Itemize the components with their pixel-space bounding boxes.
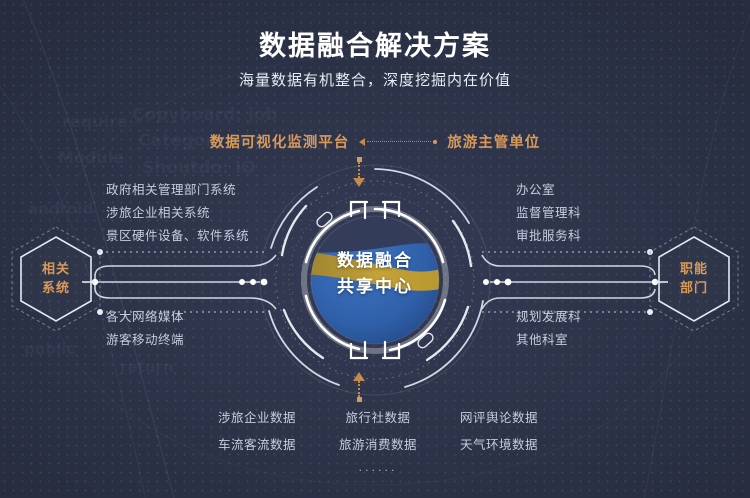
right-hex-line1: 职能 <box>680 260 708 279</box>
list-item[interactable]: 办公室 <box>516 178 581 201</box>
watermark-text: android <box>28 200 93 218</box>
right-hex-line2: 部门 <box>680 279 708 298</box>
left-sources-top-list: 政府相关管理部门系统 涉旅企业相关系统 景区硬件设备、软件系统 <box>106 178 249 247</box>
list-item[interactable]: 游客移动终端 <box>106 328 184 351</box>
data-row-2: 车流客流数据 旅游消费数据 天气环境数据 <box>218 434 538 453</box>
right-departments-top-list: 办公室 监督管理科 审批服务科 <box>516 178 581 247</box>
right-departments-bottom-list: 规划发展科 其他科室 <box>516 305 581 351</box>
data-cell[interactable]: 旅游消费数据 <box>339 434 417 453</box>
data-fusion-hub[interactable]: 数据融合 共享中心 <box>255 160 495 400</box>
left-hex-line2: 系统 <box>42 279 70 298</box>
data-row-1: 涉旅企业数据 旅行社数据 网评舆论数据 <box>218 407 538 426</box>
list-item[interactable]: 监督管理科 <box>516 201 581 224</box>
list-item[interactable]: 审批服务科 <box>516 224 581 247</box>
right-hexagon-label: 职能 部门 <box>646 224 742 334</box>
infographic-canvas: Copyboard: job Category: de Shoutdo: IO … <box>0 0 750 498</box>
authority-label[interactable]: 旅游主管单位 <box>447 131 540 152</box>
left-hexagon[interactable]: 相关 系统 <box>8 224 104 334</box>
dotted-arrow-left-icon <box>359 136 437 148</box>
left-sources-bottom-list: 各大网络媒体 游客移动终端 <box>106 305 184 351</box>
data-cell[interactable]: 旅行社数据 <box>345 407 410 426</box>
top-node-row: 数据可视化监测平台 旅游主管单位 <box>0 131 750 152</box>
list-item[interactable]: 政府相关管理部门系统 <box>106 178 249 201</box>
data-cell[interactable]: 网评舆论数据 <box>460 407 538 426</box>
list-item[interactable]: 其他科室 <box>516 328 581 351</box>
left-hexagon-label: 相关 系统 <box>8 224 104 334</box>
watermark-text: require <box>62 112 128 131</box>
right-hexagon[interactable]: 职能 部门 <box>646 224 742 334</box>
bottom-data-grid: 涉旅企业数据 旅行社数据 网评舆论数据 车流客流数据 旅游消费数据 天气环境数据… <box>218 407 538 474</box>
watermark-text: Copyboard: job <box>132 105 278 125</box>
page-title: 数据融合解决方案 <box>0 24 750 63</box>
hub-label: 数据融合 共享中心 <box>255 248 495 300</box>
watermark-text: Shoutdo: IO <box>142 158 256 178</box>
hub-line-1: 数据融合 <box>255 248 495 274</box>
data-more-ellipsis: ...... <box>218 461 538 474</box>
left-hex-line1: 相关 <box>42 260 70 279</box>
data-cell[interactable]: 天气环境数据 <box>460 434 538 453</box>
page-subtitle: 海量数据有机整合，深度挖掘内在价值 <box>0 69 750 90</box>
data-cell[interactable]: 车流客流数据 <box>218 434 296 453</box>
list-item[interactable]: 各大网络媒体 <box>106 305 184 328</box>
platform-label[interactable]: 数据可视化监测平台 <box>210 131 350 152</box>
hub-line-2: 共享中心 <box>255 274 495 300</box>
list-item[interactable]: 涉旅企业相关系统 <box>106 201 249 224</box>
watermark-text: public <box>24 340 75 358</box>
list-item[interactable]: 规划发展科 <box>516 305 581 328</box>
list-item[interactable]: 景区硬件设备、软件系统 <box>106 224 249 247</box>
data-cell[interactable]: 涉旅企业数据 <box>218 407 296 426</box>
watermark-text: return <box>120 358 174 376</box>
